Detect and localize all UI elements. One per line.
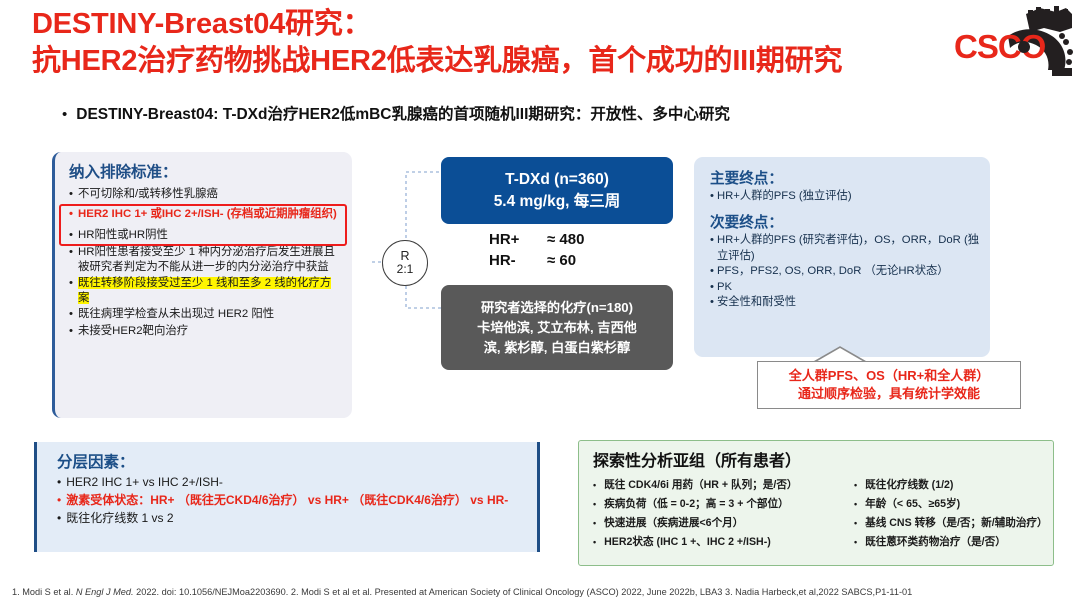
arm-tdxd-box: T-DXd (n=360) 5.4 mg/kg, 每三周 <box>441 157 673 224</box>
exploratory-item: • 基线 CNS 转移（是/否；新/辅助治疗） <box>854 514 1048 533</box>
page-title: DESTINY-Breast04研究： 抗HER2治疗药物挑战HER2低表达乳腺… <box>32 6 932 80</box>
arm-tdxd-line2: 5.4 mg/kg, 每三周 <box>494 191 621 213</box>
exploratory-item: • 疾病负荷（低 = 0-2；高 = 3 + 个部位） <box>593 495 848 514</box>
hr-positive-label: HR+ <box>489 229 547 250</box>
criteria-title: 纳入排除标准： <box>69 163 342 183</box>
bullet-icon: • <box>710 280 714 295</box>
title-line-2: 抗HER2治疗药物挑战HER2低表达乳腺癌，首个成功的III期研究 <box>32 42 932 80</box>
secondary-endpoint-text: HR+人群的PFS (研究者评估)，OS，ORR，DoR (独立评估) <box>717 233 980 264</box>
arm-chemo-line3: 滨, 紫杉醇, 白蛋白紫杉醇 <box>484 338 631 358</box>
randomization-ratio: 2:1 <box>397 263 414 276</box>
footnote-part1: 1. Modi S et al. <box>12 587 76 597</box>
exploratory-item: • 既往蒽环类药物治疗（是/否） <box>854 533 1048 552</box>
bullet-icon: • <box>69 187 73 202</box>
bullet-icon: • <box>854 495 857 514</box>
callout-line2: 通过顺序检验，具有统计学效能 <box>798 385 980 403</box>
primary-endpoint-item: • HR+人群的PFS (独立评估) <box>710 189 980 204</box>
exploratory-subgroups-panel: 探索性分析亚组（所有患者） • 既往 CDK4/6i 用药（HR + 队列；是/… <box>578 440 1054 566</box>
endpoints-panel: 主要终点： • HR+人群的PFS (独立评估) 次要终点： • HR+人群的P… <box>694 157 990 357</box>
criteria-item-text: 既往转移阶段接受过至少 1 线和至多 2 线的化疗方案 <box>78 276 342 306</box>
hr-counts-group: HR+ ≈ 480 HR- ≈ 60 <box>489 229 679 271</box>
subtitle-text: DESTINY-Breast04: T-DXd治疗HER2低mBC乳腺癌的首项随… <box>76 104 730 126</box>
stratification-item: • 既往化疗线数 1 vs 2 <box>57 509 531 527</box>
statistical-power-callout: 全人群PFS、OS（HR+和全人群） 通过顺序检验，具有统计学效能 <box>757 361 1021 409</box>
title-line-1: DESTINY-Breast04研究： <box>32 6 932 42</box>
subtitle-bullet-icon: • <box>62 104 67 126</box>
exploratory-item: • 既往化疗线数 (1/2) <box>854 476 1048 495</box>
bullet-icon: • <box>854 533 857 552</box>
arm-tdxd-line1: T-DXd (n=360) <box>505 169 609 191</box>
svg-text:CSCO: CSCO <box>954 28 1046 65</box>
bullet-icon: • <box>854 476 857 495</box>
criteria-item: • 既往病理学检查从未出现过 HER2 阳性 <box>69 307 342 322</box>
criteria-item: • HR阳性患者接受至少 1 种内分泌治疗后发生进展且被研究者判定为不能从进一步… <box>69 245 342 275</box>
exploratory-item: • 既往 CDK4/6i 用药（HR + 队列；是/否） <box>593 476 848 495</box>
exploratory-item-text: 基线 CNS 转移（是/否；新/辅助治疗） <box>865 514 1047 533</box>
secondary-endpoint-item: • 安全性和耐受性 <box>710 295 980 310</box>
secondary-endpoint-item: • PFS，PFS2, OS, ORR, DoR （无论HR状态） <box>710 264 980 279</box>
hr-positive-value: ≈ 480 <box>547 229 584 250</box>
arm-chemo-line2: 卡培他滨, 艾立布林, 吉西他 <box>477 318 637 338</box>
csco-logo: CSCO <box>948 2 1074 82</box>
bullet-icon: • <box>854 514 857 533</box>
bullet-icon: • <box>593 495 596 514</box>
hr-negative-value: ≈ 60 <box>547 250 576 271</box>
bullet-icon: • <box>710 295 714 310</box>
footnote-journal: N Engl J Med. <box>76 587 134 597</box>
bullet-icon: • <box>69 324 73 339</box>
arm-chemotherapy-box: 研究者选择的化疗(n=180) 卡培他滨, 艾立布林, 吉西他 滨, 紫杉醇, … <box>441 285 673 370</box>
exploratory-item: • HER2状态 (IHC 1 +、IHC 2 +/ISH-) <box>593 533 848 552</box>
criteria-item-highlighted-yellow: • 既往转移阶段接受过至少 1 线和至多 2 线的化疗方案 <box>69 276 342 306</box>
exploratory-column-left: • 既往 CDK4/6i 用药（HR + 队列；是/否） • 疾病负荷（低 = … <box>593 476 848 552</box>
bullet-icon: • <box>69 276 73 306</box>
bullet-icon: • <box>710 233 714 264</box>
bullet-icon: • <box>710 264 714 279</box>
red-highlight-box <box>59 204 347 246</box>
exploratory-title: 探索性分析亚组（所有患者） <box>593 450 1045 473</box>
criteria-item-text: 未接受HER2靶向治疗 <box>78 324 342 339</box>
exploratory-item-text: 疾病负荷（低 = 0-2；高 = 3 + 个部位） <box>604 495 789 514</box>
bullet-icon: • <box>57 491 61 509</box>
criteria-item-text: 既往病理学检查从未出现过 HER2 阳性 <box>78 307 342 322</box>
bullet-icon: • <box>69 307 73 322</box>
bullet-icon: • <box>710 189 714 204</box>
criteria-item-text: 不可切除和/或转移性乳腺癌 <box>78 187 342 202</box>
hr-negative-label: HR- <box>489 250 547 271</box>
callout-line1: 全人群PFS、OS（HR+和全人群） <box>789 367 989 385</box>
stratification-item-text: 激素受体状态：HR+ （既往无CKD4/6治疗） vs HR+ （既往CDK4/… <box>66 491 508 509</box>
criteria-item: • 未接受HER2靶向治疗 <box>69 324 342 339</box>
bullet-icon: • <box>57 509 61 527</box>
exploratory-item: • 年龄（< 65、≥65岁) <box>854 495 1048 514</box>
hr-count-row: HR+ ≈ 480 <box>489 229 679 250</box>
bullet-icon: • <box>57 473 61 491</box>
exploratory-item-text: 快速进展（疾病进展<6个月） <box>604 514 743 533</box>
footnote-part2: 2022. doi: 10.1056/NEJMoa2203690. 2. Mod… <box>134 587 913 597</box>
stratification-item-text: HER2 IHC 1+ vs IHC 2+/ISH- <box>66 473 223 491</box>
bullet-icon: • <box>593 533 596 552</box>
stratification-item: • HER2 IHC 1+ vs IHC 2+/ISH- <box>57 473 531 491</box>
stratification-item-highlighted: • 激素受体状态：HR+ （既往无CKD4/6治疗） vs HR+ （既往CDK… <box>57 491 531 509</box>
criteria-item: • 不可切除和/或转移性乳腺癌 <box>69 187 342 202</box>
bullet-icon: • <box>593 514 596 533</box>
inclusion-exclusion-panel: 纳入排除标准： • 不可切除和/或转移性乳腺癌 • HER2 IHC 1+ 或I… <box>52 152 352 418</box>
exploratory-item: • 快速进展（疾病进展<6个月） <box>593 514 848 533</box>
exploratory-item-text: HER2状态 (IHC 1 +、IHC 2 +/ISH-) <box>604 533 771 552</box>
secondary-endpoint-item: • HR+人群的PFS (研究者评估)，OS，ORR，DoR (独立评估) <box>710 233 980 264</box>
bullet-icon: • <box>593 476 596 495</box>
arm-chemo-line1: 研究者选择的化疗(n=180) <box>481 298 633 318</box>
secondary-endpoint-title: 次要终点： <box>710 213 980 233</box>
secondary-endpoint-text: PFS，PFS2, OS, ORR, DoR （无论HR状态） <box>717 264 980 279</box>
randomization-circle: R 2:1 <box>382 240 428 286</box>
randomization-connector <box>372 160 452 320</box>
secondary-endpoint-item: • PK <box>710 280 980 295</box>
exploratory-item-text: 既往蒽环类药物治疗（是/否） <box>865 533 1006 552</box>
exploratory-item-text: 既往 CDK4/6i 用药（HR + 队列；是/否） <box>604 476 797 495</box>
bullet-icon: • <box>69 245 73 275</box>
stratification-panel: 分层因素： • HER2 IHC 1+ vs IHC 2+/ISH- • 激素受… <box>34 442 540 552</box>
secondary-endpoint-text: PK <box>717 280 980 295</box>
hr-count-row: HR- ≈ 60 <box>489 250 679 271</box>
stratification-title: 分层因素： <box>57 452 531 473</box>
stratification-item-text: 既往化疗线数 1 vs 2 <box>66 509 173 527</box>
primary-endpoint-text: HR+人群的PFS (独立评估) <box>717 189 980 204</box>
exploratory-item-text: 年龄（< 65、≥65岁) <box>865 495 960 514</box>
subtitle-row: • DESTINY-Breast04: T-DXd治疗HER2低mBC乳腺癌的首… <box>62 104 1012 126</box>
criteria-item-text: HR阳性患者接受至少 1 种内分泌治疗后发生进展且被研究者判定为不能从进一步的内… <box>78 245 342 275</box>
primary-endpoint-title: 主要终点： <box>710 169 980 189</box>
exploratory-item-text: 既往化疗线数 (1/2) <box>865 476 953 495</box>
secondary-endpoint-text: 安全性和耐受性 <box>717 295 980 310</box>
footnote-references: 1. Modi S et al. N Engl J Med. 2022. doi… <box>12 586 1072 599</box>
exploratory-column-right: • 既往化疗线数 (1/2) • 年龄（< 65、≥65岁) • 基线 CNS … <box>854 476 1048 552</box>
